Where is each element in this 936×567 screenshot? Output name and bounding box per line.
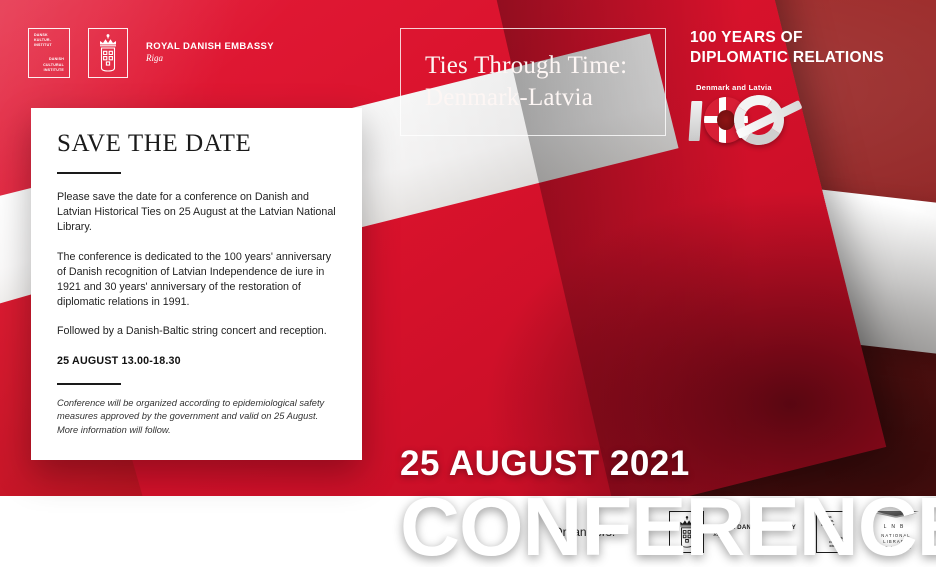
poster: DANSK KULTUR- INSTITUT DANISH CULTURAL I… <box>0 0 936 567</box>
anniversary-block: 100 YEARS OF DIPLOMATIC RELATIONS Denmar… <box>690 28 884 145</box>
anniversary-latvian-ribbon-zero <box>729 90 788 149</box>
dci-logo-line-top: DANSK KULTUR- INSTITUT <box>34 33 64 49</box>
card-safety-note: Conference will be organized according t… <box>57 397 336 437</box>
card-paragraph-3: Followed by a Danish-Baltic string conce… <box>57 324 336 339</box>
anniversary-logo: Denmark and Latvia <box>690 83 785 145</box>
conference-title-line2: Denmark-Latvia <box>425 84 593 111</box>
card-divider-bottom <box>57 383 121 385</box>
anniversary-headline: 100 YEARS OF DIPLOMATIC RELATIONS <box>690 28 884 69</box>
embassy-name: ROYAL DANISH EMBASSY <box>146 41 274 53</box>
danish-royal-crest-icon <box>88 28 128 78</box>
page-title: Ties Through Time: Denmark-Latvia <box>425 50 627 115</box>
conference-title-box: Ties Through Time: Denmark-Latvia <box>400 28 666 136</box>
card-paragraph-1: Please save the date for a conference on… <box>57 190 336 236</box>
card-heading: SAVE THE DATE <box>57 130 336 158</box>
card-paragraph-2: The conference is dedicated to the 100 y… <box>57 250 336 311</box>
danish-cultural-institute-logo: DANSK KULTUR- INSTITUT DANISH CULTURAL I… <box>28 28 70 78</box>
dci-logo-line-bottom: DANISH CULTURAL INSTITUTE <box>34 57 64 73</box>
card-divider-top <box>57 172 121 174</box>
anniversary-headline-line1: 100 YEARS OF <box>690 28 884 48</box>
event-word-conference: CONFERENCE <box>400 487 936 567</box>
embassy-city: Riga <box>146 53 274 64</box>
anniversary-digit-one <box>689 101 703 141</box>
anniversary-100-mark-icon <box>690 95 785 145</box>
save-the-date-card: SAVE THE DATE Please save the date for a… <box>31 108 362 460</box>
anniversary-caption: Denmark and Latvia <box>696 83 785 92</box>
event-date: 25 AUGUST 2021 <box>400 446 936 481</box>
event-headline: 25 AUGUST 2021 CONFERENCE <box>400 446 936 567</box>
anniversary-headline-line2: DIPLOMATIC RELATIONS <box>690 48 884 68</box>
card-datetime: 25 AUGUST 13.00-18.30 <box>57 354 336 369</box>
header-logos: DANSK KULTUR- INSTITUT DANISH CULTURAL I… <box>28 28 274 78</box>
conference-title-line1: Ties Through Time: <box>425 52 627 79</box>
embassy-wordmark: ROYAL DANISH EMBASSY Riga <box>146 41 274 64</box>
